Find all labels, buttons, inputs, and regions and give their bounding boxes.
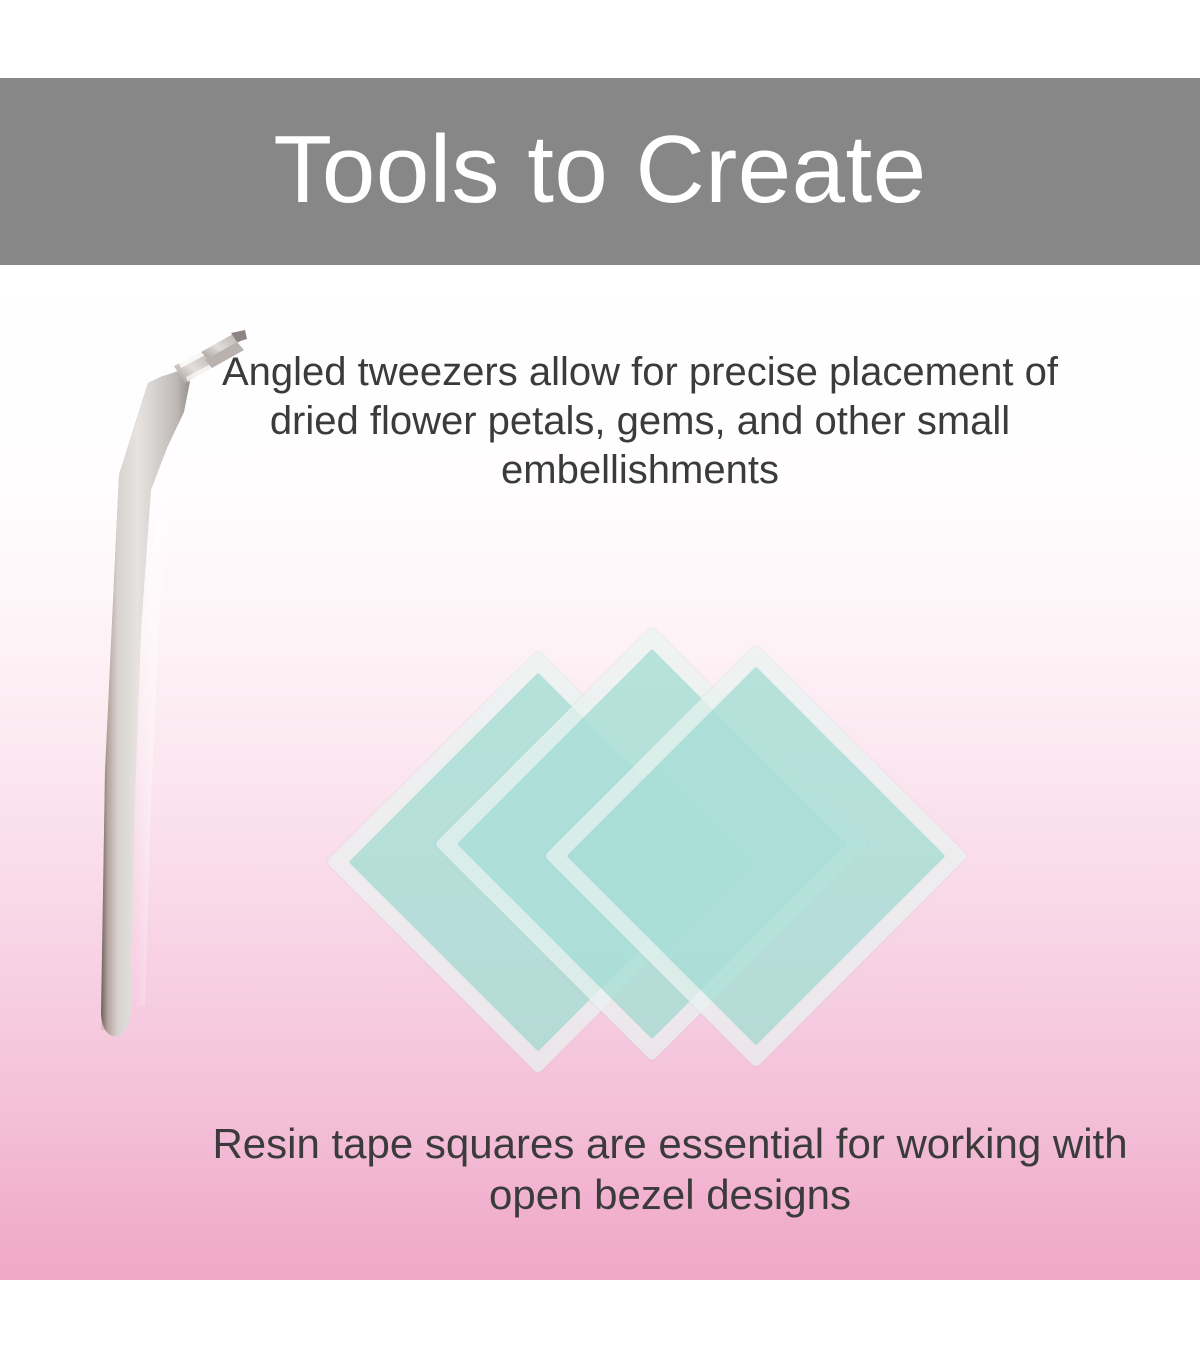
tweezers-caption: Angled tweezers allow for precise placem… bbox=[200, 348, 1080, 494]
infographic-canvas: Tools to Create bbox=[0, 0, 1200, 1360]
resin-tape-squares-image bbox=[370, 620, 950, 1130]
page-title: Tools to Create bbox=[273, 122, 926, 218]
resin-tape-caption: Resin tape squares are essential for wor… bbox=[170, 1118, 1170, 1220]
header-band: Tools to Create bbox=[0, 78, 1200, 265]
